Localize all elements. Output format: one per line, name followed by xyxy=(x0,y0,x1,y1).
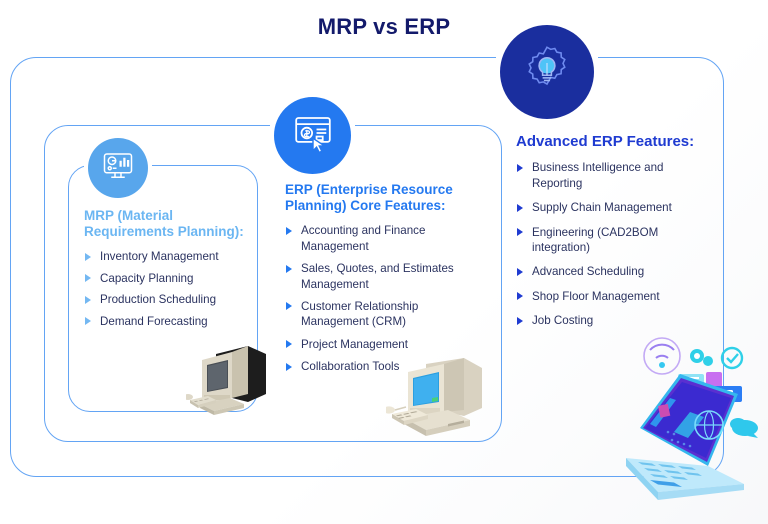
mrp-section: MRP (Material Requirements Planning): In… xyxy=(84,208,248,335)
advanced-erp-section: Advanced ERP Features: Business Intellig… xyxy=(516,133,716,338)
list-item: Project Management xyxy=(285,337,483,352)
retro-desktop-computer-illustration xyxy=(386,352,498,453)
list-item: Sales, Quotes, and Estimates Management xyxy=(285,261,483,292)
modern-laptop-illustration xyxy=(612,332,762,505)
mrp-heading: MRP (Material Requirements Planning): xyxy=(84,208,248,239)
gear-icon xyxy=(690,349,713,366)
advanced-feature-list: Business Intelligence and Reporting Supp… xyxy=(516,160,716,328)
erp-heading: ERP (Enterprise Resource Planning) Core … xyxy=(285,182,483,213)
gear-lightbulb-icon xyxy=(519,42,575,103)
list-item: Inventory Management xyxy=(84,249,248,264)
monitor-analytics-icon xyxy=(100,148,136,189)
list-item: Capacity Planning xyxy=(84,271,248,286)
list-item: Job Costing xyxy=(516,313,716,328)
list-item: Advanced Scheduling xyxy=(516,264,716,279)
list-item: Business Intelligence and Reporting xyxy=(516,160,716,191)
erp-badge xyxy=(274,97,351,174)
mrp-badge xyxy=(88,138,148,198)
list-item: Production Scheduling xyxy=(84,292,248,307)
mrp-feature-list: Inventory Management Capacity Planning P… xyxy=(84,249,248,329)
page-title: MRP vs ERP xyxy=(0,14,768,40)
advanced-erp-heading: Advanced ERP Features: xyxy=(516,133,716,150)
list-item: Supply Chain Management xyxy=(516,200,716,215)
list-item: Engineering (CAD2BOM integration) xyxy=(516,225,716,256)
list-item: Demand Forecasting xyxy=(84,314,248,329)
advanced-erp-badge xyxy=(500,25,594,119)
list-item: Shop Floor Management xyxy=(516,289,716,304)
cloud-icon xyxy=(730,418,758,438)
vintage-crt-computer-illustration xyxy=(186,342,284,427)
check-shield-icon xyxy=(722,348,742,368)
list-item: Customer Relationship Management (CRM) xyxy=(285,299,483,330)
browser-payment-cursor-icon xyxy=(290,110,336,161)
wifi-icon xyxy=(644,338,680,374)
list-item: Accounting and Finance Management xyxy=(285,223,483,254)
diagram-canvas: MRP vs ERP xyxy=(0,0,768,524)
